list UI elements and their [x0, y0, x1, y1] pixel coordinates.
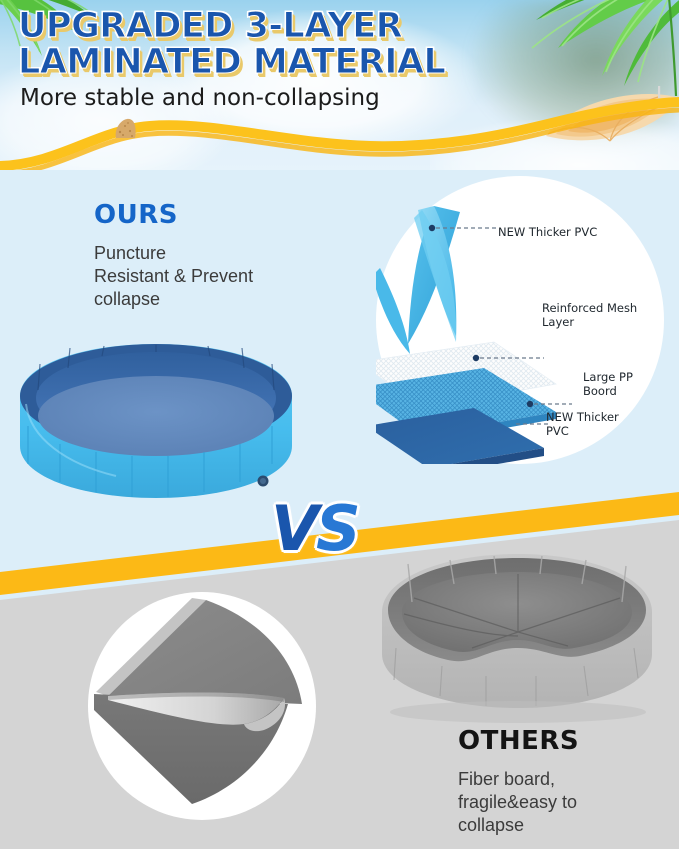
page-title-line1: UPGRADED 3-LAYER [18, 8, 538, 44]
other-pool-product-image [368, 536, 664, 726]
callout-label-large-pp-board: Large PP Boord [583, 371, 633, 398]
callout-label-new-thicker-pvc-top: NEW Thicker PVC [498, 226, 597, 240]
ours-text-block: OURS Puncture Resistant & Prevent collap… [94, 200, 324, 311]
page-subtitle: More stable and non-collapsing [20, 86, 538, 111]
callout-label-reinforced-mesh-layer: Reinforced Mesh Layer [542, 302, 637, 329]
versus-letter-s: S [316, 492, 358, 565]
fiber-board-peeling-image [88, 592, 316, 820]
header-banner: UPGRADED 3-LAYER LAMINATED MATERIAL More… [0, 0, 679, 172]
ours-heading: OURS [94, 200, 324, 230]
others-description: Fiber board, fragile&easy to collapse [458, 768, 668, 837]
product-infographic: UPGRADED 3-LAYER LAMINATED MATERIAL More… [0, 0, 679, 849]
versus-letter-v: V [271, 492, 316, 565]
our-pool-product-image [6, 318, 306, 518]
page-title-line2: LAMINATED MATERIAL [18, 44, 538, 80]
header-title-group: UPGRADED 3-LAYER LAMINATED MATERIAL More… [18, 8, 538, 111]
callout-label-new-thicker-pvc-bottom: NEW Thicker PVC [546, 411, 619, 438]
ours-description: Puncture Resistant & Prevent collapse [94, 242, 324, 311]
sand-texture [112, 118, 138, 140]
others-heading: OTHERS [458, 726, 668, 756]
versus-badge: VS [271, 498, 358, 560]
others-text-block: OTHERS Fiber board, fragile&easy to coll… [458, 726, 668, 837]
